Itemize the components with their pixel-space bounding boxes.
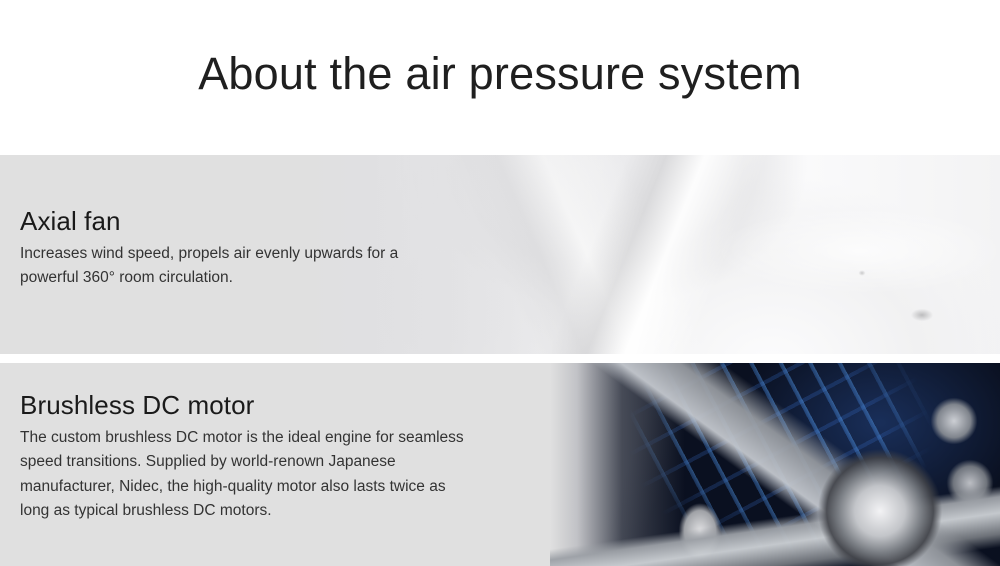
page-title: About the air pressure system xyxy=(198,51,802,104)
axial-fan-body-line-1: Increases wind speed, propels air evenly… xyxy=(20,242,580,266)
page-header: About the air pressure system xyxy=(0,0,1000,155)
section-divider xyxy=(0,354,1000,363)
section-axial-fan: Axial fan Increases wind speed, propels … xyxy=(0,155,1000,354)
motor-heading: Brushless DC motor xyxy=(20,391,1000,420)
motor-text-block: Brushless DC motor The custom brushless … xyxy=(0,363,1000,524)
axial-fan-heading: Axial fan xyxy=(20,207,1000,236)
motor-body-line-2: speed transitions. Supplied by world-ren… xyxy=(20,450,600,474)
product-feature-page: About the air pressure system Axial fan … xyxy=(0,0,1000,566)
motor-body-line-3: manufacturer, Nidec, the high-quality mo… xyxy=(20,475,600,499)
motor-body-line-4: long as typical brushless DC motors. xyxy=(20,499,600,523)
section-brushless-dc-motor: Brushless DC motor The custom brushless … xyxy=(0,363,1000,566)
axial-fan-body: Increases wind speed, propels air evenly… xyxy=(20,242,580,291)
axial-fan-body-line-2: powerful 360° room circulation. xyxy=(20,266,580,290)
motor-body: The custom brushless DC motor is the ide… xyxy=(20,426,600,524)
motor-body-line-1: The custom brushless DC motor is the ide… xyxy=(20,426,600,450)
axial-fan-text-block: Axial fan Increases wind speed, propels … xyxy=(0,155,1000,291)
